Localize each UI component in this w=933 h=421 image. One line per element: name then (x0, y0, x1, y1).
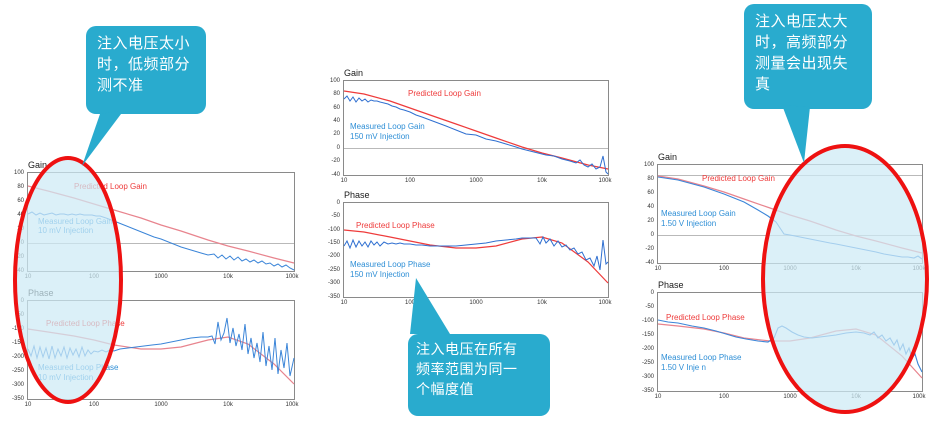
callout-line: 注入电压太大 (755, 11, 862, 32)
callout-high-voltage[interactable]: 注入电压太大 时，高频部分 测量会出现失 真 (744, 4, 872, 109)
measured-loop-phase-label: Measured Loop Phase (350, 260, 431, 270)
panel-150v-gain-plot: Gain 100 80 60 40 20 0 -20 -40 10 100 10… (634, 152, 933, 280)
callout-constant-amplitude[interactable]: 注入电压在所有 频率范围为同一 个幅度值 (408, 334, 550, 416)
measured-loop-phase-label: Measured Loop Phase (661, 353, 742, 363)
callout-tail (410, 274, 455, 336)
phase-curves (0, 288, 300, 421)
measured-loop-gain-sublabel: 10 mV Injection (38, 226, 93, 236)
callout-line: 注入电压在所有 (416, 340, 542, 360)
measured-loop-phase-sublabel: 1.50 V Inje n (661, 363, 706, 373)
callout-low-voltage[interactable]: 注入电压太小 时，低频部分 测不准 (86, 26, 206, 114)
callout-line: 个幅度值 (416, 380, 542, 400)
panel-10mv: Gain 100 80 60 40 20 0 -20 -40 10 100 10… (0, 160, 300, 421)
measured-loop-phase-sublabel: 10 mV Injection (38, 373, 93, 383)
predicted-loop-gain-label: Predicted Loop Gain (702, 174, 775, 184)
measured-loop-gain-sublabel: 1.50 V Injection (661, 219, 716, 229)
callout-line: 注入电压太小 (97, 33, 196, 54)
predicted-loop-phase-label: Predicted Loop Phase (46, 319, 125, 329)
slide-canvas: Gain 100 80 60 40 20 0 -20 -40 10 100 10… (0, 0, 933, 421)
callout-line: 测不准 (97, 75, 196, 96)
panel-150mv-gain-plot: Gain 100 80 60 40 20 0 -20 -40 10 100 10… (320, 68, 615, 190)
callout-line: 频率范围为同一 (416, 360, 542, 380)
panel-10mv-phase-plot: Phase 0 -50 -100 -150 -200 -250 -300 -35… (0, 288, 300, 421)
panel-150v-phase-plot: Phase 0 -50 -100 -150 -200 -250 -300 -35… (634, 280, 933, 416)
callout-tail (80, 110, 130, 168)
predicted-loop-phase-label: Predicted Loop Phase (666, 313, 745, 323)
panel-10mv-gain-plot: Gain 100 80 60 40 20 0 -20 -40 10 100 10… (0, 160, 300, 288)
callout-line: 时，高频部分 (755, 32, 862, 53)
callout-line: 真 (755, 74, 862, 95)
panel-150mv: Gain 100 80 60 40 20 0 -20 -40 10 100 10… (320, 68, 615, 318)
predicted-loop-gain-label: Predicted Loop Gain (408, 89, 481, 99)
callout-line: 测量会出现失 (755, 53, 862, 74)
phase-curves (634, 280, 933, 416)
predicted-loop-gain-label: Predicted Loop Gain (74, 182, 147, 192)
measured-loop-gain-label: Measured Loop Gain (661, 209, 736, 219)
measured-loop-phase-sublabel: 150 mV Injection (350, 270, 410, 280)
measured-loop-phase-label: Measured Loop Phase (38, 363, 119, 373)
measured-loop-gain-label: Measured Loop Gain (350, 122, 425, 132)
panel-150v: Gain 100 80 60 40 20 0 -20 -40 10 100 10… (634, 152, 933, 416)
measured-loop-gain-sublabel: 150 mV Injection (350, 132, 410, 142)
phase-curves (320, 190, 615, 318)
predicted-loop-phase-label: Predicted Loop Phase (356, 221, 435, 231)
panel-150mv-phase-plot: Phase 0 -50 -100 -150 -200 -250 -300 -35… (320, 190, 615, 318)
callout-tail (780, 105, 830, 167)
callout-line: 时，低频部分 (97, 54, 196, 75)
